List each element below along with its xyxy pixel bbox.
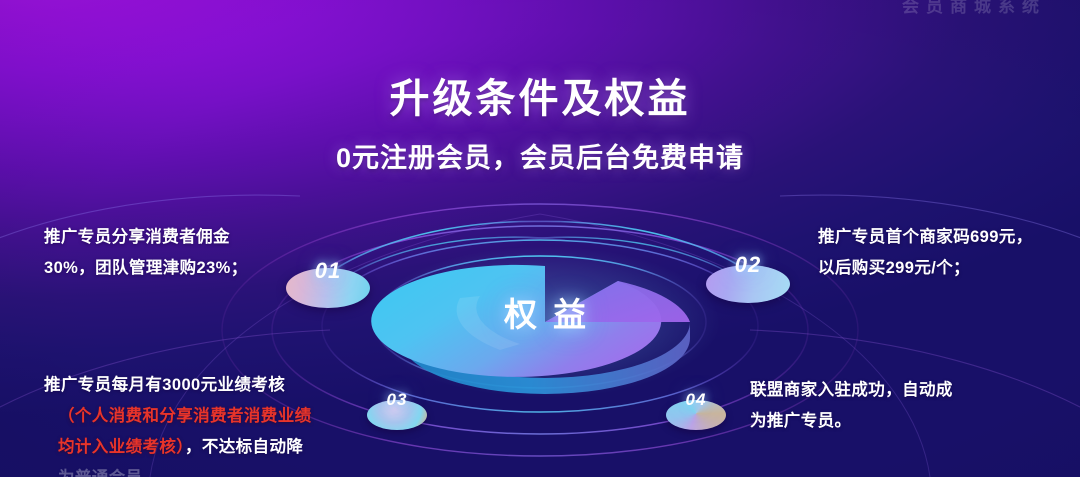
note-top-left: 推广专员分享消费者佣金 30%，团队管理津购23%； [44, 222, 248, 284]
node-marker-02[interactable]: 02 [706, 254, 790, 298]
note-top-left-line2: 30%，团队管理津购23%； [44, 253, 248, 284]
note-bottom-left: 推广专员每月有3000元业绩考核 （个人消费和分享消费者消费业绩 均计入业绩考核… [44, 370, 312, 477]
node-marker-01[interactable]: 01 [286, 258, 370, 302]
note-bottom-left-line3-rest: ，不达标自动降 [185, 438, 303, 456]
note-bottom-left-line2-highlight: （个人消费和分享消费者消费业绩 [44, 401, 312, 432]
note-top-right-line2: 以后购买299元/个； [818, 253, 1033, 284]
node-number-04: 04 [666, 390, 726, 410]
center-pie-graphic [370, 246, 720, 398]
page-subtitle: 0元注册会员，会员后台免费申请 [0, 136, 1080, 175]
note-top-right-line1: 推广专员首个商家码699元， [818, 222, 1033, 253]
note-bottom-left-line3-highlight: 均计入业绩考核） [58, 438, 185, 456]
note-bottom-left-line4-clipped: 为普通会员。 [44, 463, 312, 477]
node-marker-03[interactable]: 03 [367, 392, 427, 430]
node-number-03: 03 [367, 390, 427, 410]
note-bottom-right-line2: 为推广专员。 [750, 406, 953, 437]
node-number-01: 01 [286, 258, 370, 284]
note-top-right: 推广专员首个商家码699元， 以后购买299元/个； [818, 222, 1033, 284]
note-bottom-right: 联盟商家入驻成功，自动成 为推广专员。 [750, 375, 953, 437]
page-title: 升级条件及权益 [0, 66, 1080, 124]
note-bottom-right-line1: 联盟商家入驻成功，自动成 [750, 375, 953, 406]
node-number-02: 02 [706, 252, 790, 278]
watermark-text: 会员商城系统 [902, 0, 1046, 17]
note-top-left-line1: 推广专员分享消费者佣金 [44, 222, 248, 253]
node-marker-04[interactable]: 04 [666, 392, 726, 430]
note-bottom-left-line1: 推广专员每月有3000元业绩考核 [44, 370, 312, 401]
slide-canvas: 会员商城系统 升级条件及权益 0元注册会员，会员后台免费申请 权益 01 02 … [0, 0, 1080, 477]
